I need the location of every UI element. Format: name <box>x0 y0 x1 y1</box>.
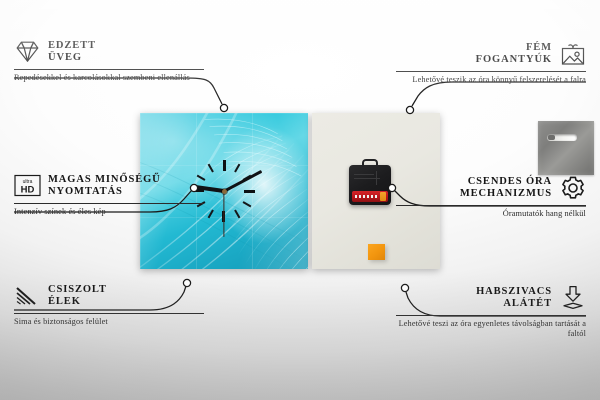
feature-polished-edges[interactable]: CSISZOLT ÉLEK Sima és biztonságos felüle… <box>14 282 204 327</box>
gear-icon <box>559 174 586 201</box>
quartz-clock-mechanism <box>349 165 391 205</box>
diamond-icon <box>14 38 41 65</box>
divider <box>396 315 586 316</box>
feature-silent-mechanism[interactable]: CSENDES ÓRA MECHANIZMUS Óramutatók hang … <box>396 174 586 219</box>
divider <box>14 203 204 204</box>
feature-description: Lehetővé teszik az óra könnyű felszerelé… <box>396 75 586 85</box>
feature-title: CSENDES ÓRA MECHANIZMUS <box>460 176 552 199</box>
hanger-slot <box>547 134 577 141</box>
feature-title: FÉM FOGANTYÚK <box>476 42 552 65</box>
mechanism-lug <box>362 159 378 167</box>
feature-tempered-glass[interactable]: EDZETT ÜVEG Repedésekkel és karcolásokka… <box>14 38 204 83</box>
divider <box>14 313 204 314</box>
divider <box>14 69 204 70</box>
picture-hanger-icon <box>559 40 586 67</box>
feature-foam-pad[interactable]: HABSZIVACS ALÁTÉT Lehetővé teszi az óra … <box>396 284 586 339</box>
clock-center-cap <box>222 189 227 194</box>
feature-title: CSISZOLT ÉLEK <box>48 284 107 307</box>
feature-title: MAGAS MINŐSÉGŰ NYOMTATÁS <box>48 174 161 197</box>
metal-hanger-plate <box>538 121 594 175</box>
feature-metal-handles[interactable]: FÉM FOGANTYÚK Lehetővé teszik az óra kön… <box>396 40 586 85</box>
foam-spacer-pad <box>368 244 385 260</box>
divider <box>396 205 586 206</box>
polished-edges-icon <box>14 282 41 309</box>
feature-title: HABSZIVACS ALÁTÉT <box>476 286 552 309</box>
ultra-hd-icon: ultra HD <box>14 172 41 199</box>
feature-description: Óramutatók hang nélkül <box>396 209 586 219</box>
foam-pad-arrow-icon <box>559 284 586 311</box>
feature-description: Sima és biztonságos felület <box>14 317 204 327</box>
feature-description: Lehetővé teszi az óra egyenletes távolsá… <box>396 319 586 339</box>
svg-text:HD: HD <box>21 185 35 196</box>
feature-description: Intenzív színek és éles kép <box>14 207 204 217</box>
feature-description: Repedésekkel és karcolásokkal szembeni e… <box>14 73 204 83</box>
feature-title: EDZETT ÜVEG <box>48 40 96 63</box>
infographic-canvas: EDZETT ÜVEG Repedésekkel és karcolásokka… <box>0 0 600 400</box>
battery <box>352 191 388 202</box>
connector-dot-tempered-glass <box>220 104 227 111</box>
feature-high-quality-print[interactable]: ultra HD MAGAS MINŐSÉGŰ NYOMTATÁS Intenz… <box>14 172 204 217</box>
divider <box>396 71 586 72</box>
